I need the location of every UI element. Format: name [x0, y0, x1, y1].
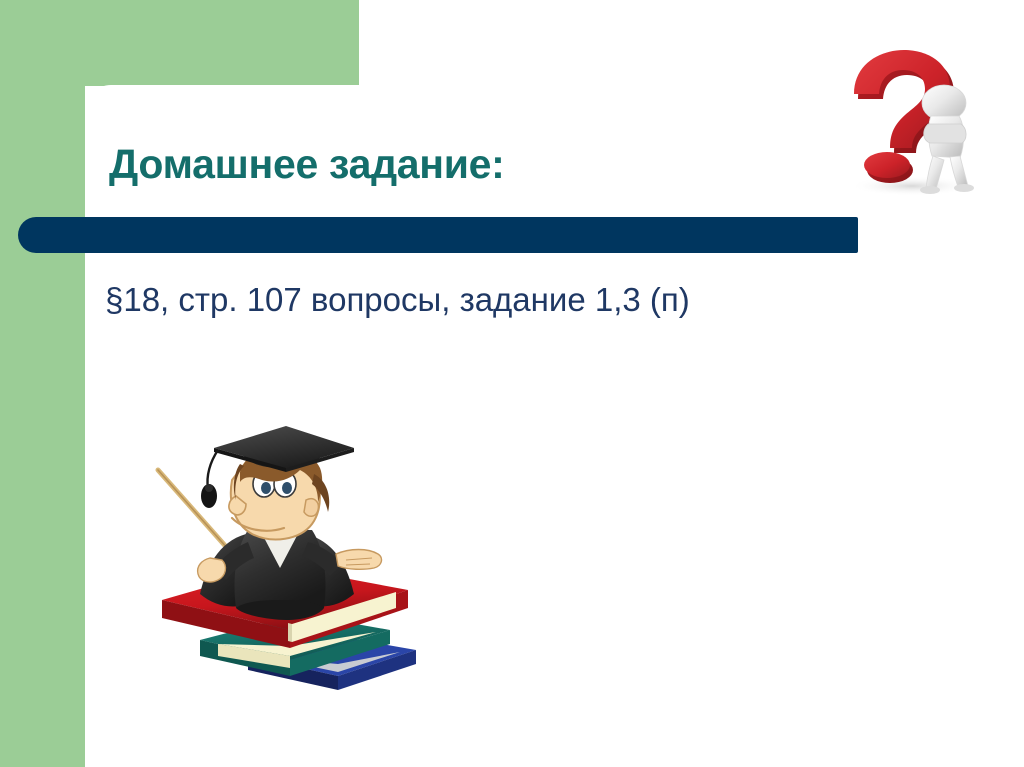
question-mark-illustration — [832, 44, 997, 199]
green-side-strip — [0, 0, 85, 767]
divider-bar — [18, 217, 858, 253]
homework-assignment-text: §18, стр. 107 вопросы, задание 1,3 (п) — [105, 281, 925, 319]
qmark-dot — [864, 152, 910, 178]
green-top-block — [0, 0, 359, 86]
qmark-person — [920, 85, 974, 194]
pointer-stick-shade — [158, 470, 236, 558]
page-title: Домашнее задание: — [109, 141, 809, 188]
graduate-on-books-illustration — [140, 418, 450, 718]
slide-canvas: Домашнее задание: §18, стр. 107 вопросы,… — [0, 0, 1024, 767]
